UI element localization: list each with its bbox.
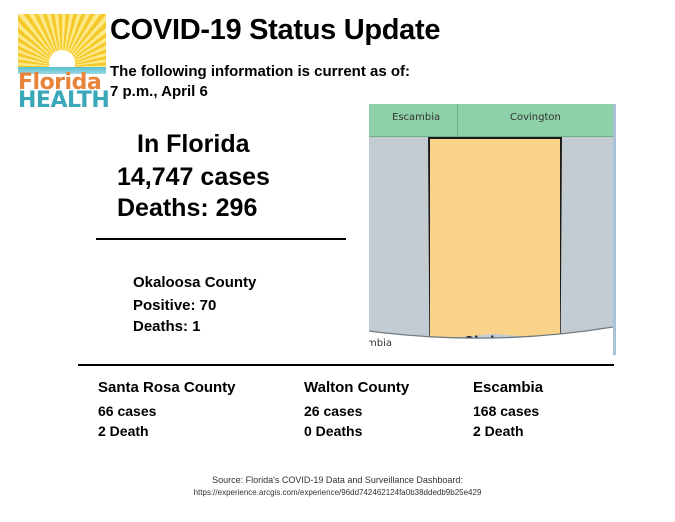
county-name: Walton County — [304, 379, 409, 396]
county-cases: 26 cases — [304, 401, 409, 421]
map-label-columbia: mbia — [369, 338, 392, 349]
county-cases: 168 cases — [473, 401, 543, 421]
county-deaths: 2 Death — [98, 421, 236, 441]
okaloosa-county-heading: Okaloosa County — [133, 274, 256, 291]
source-text: Source: Florida's COVID-19 Data and Surv… — [0, 474, 675, 487]
county-name: Escambia — [473, 379, 543, 396]
county-cases: 66 cases — [98, 401, 236, 421]
source-url[interactable]: https://experience.arcgis.com/experience… — [0, 487, 675, 499]
county-name: Santa Rosa County — [98, 379, 236, 396]
county-block-santa-rosa: Santa Rosa County 66 cases 2 Death — [98, 379, 236, 441]
coastline-shape — [369, 325, 613, 355]
statewide-deaths: Deaths: 296 — [117, 194, 257, 223]
okaloosa-county-map: Escambia Covington Okaloosa Santa Rosa W… — [369, 104, 616, 355]
county-block-walton: Walton County 26 cases 0 Deaths — [304, 379, 409, 441]
map-label-escambia: Escambia — [392, 112, 440, 123]
florida-health-logo: Florida HEALTH — [18, 14, 106, 102]
county-deaths: 0 Deaths — [304, 421, 409, 441]
sunburst-icon — [18, 14, 106, 67]
footer: Source: Florida's COVID-19 Data and Surv… — [0, 474, 675, 499]
county-block-escambia: Escambia 168 cases 2 Death — [473, 379, 543, 441]
logo-text-health: HEALTH — [18, 91, 106, 111]
county-deaths: 2 Death — [473, 421, 543, 441]
page-title: COVID-19 Status Update — [110, 14, 440, 47]
subtitle-line-2: 7 p.m., April 6 — [110, 83, 208, 100]
subtitle-line-1: The following information is current as … — [110, 63, 410, 80]
okaloosa-positive: Positive: 70 — [133, 297, 216, 314]
map-label-covington: Covington — [510, 112, 561, 123]
divider-upper — [96, 238, 346, 240]
map-region-okaloosa — [428, 137, 562, 342]
statewide-heading: In Florida — [137, 130, 250, 159]
statewide-cases: 14,747 cases — [117, 163, 270, 192]
divider-lower — [78, 364, 614, 366]
okaloosa-deaths: Deaths: 1 — [133, 318, 201, 335]
